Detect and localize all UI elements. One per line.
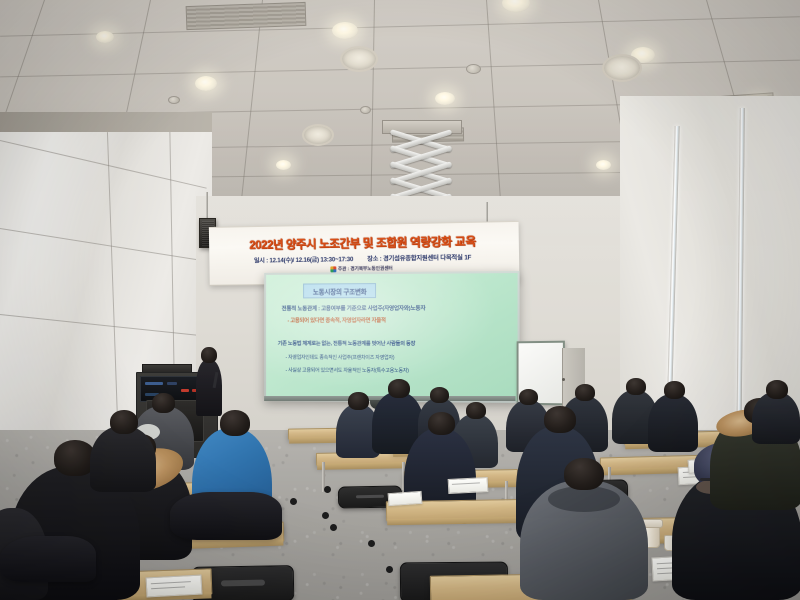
ceiling-downlight — [435, 92, 455, 105]
banner-host-label: 주관 : 경기북부노동인권센터 — [338, 265, 393, 272]
ceiling-downlight — [195, 76, 217, 91]
handout-paper — [388, 491, 423, 506]
smoke-detector-icon — [360, 106, 371, 114]
attendee — [520, 480, 648, 600]
banner-date: 일시 : 12.14(수)/ 12.16(금) 13:30~17:30 — [254, 254, 353, 264]
host-logo-icon — [330, 266, 336, 272]
slide-line: - 고용되어 있다면 종속적, 자영업자라면 자율적 — [287, 316, 385, 324]
attendee — [90, 426, 156, 492]
ceiling-downlight — [276, 160, 291, 170]
draped-coat — [0, 536, 96, 582]
banner-host: 주관 : 경기북부노동인권센터 — [330, 265, 393, 272]
speaker-pole-left — [206, 192, 208, 220]
slide-title: 노동시장의 구조변화 — [303, 283, 376, 298]
banner-title: 2022년 양주시 노조간부 및 조합원 역량강화 교육 — [249, 236, 476, 252]
banner-place: 장소 : 경기섬유종합지원센터 다목적실 1F — [367, 252, 471, 263]
slide-line: - 자영업자인데도 종속적인 사업주(프랜차이즈 자영업자) — [286, 354, 395, 361]
slide-line: 전통적 노동관계 : 고용여부를 기준으로 사업주(자영업자와)노동자 — [282, 304, 426, 312]
ceiling-downlight — [96, 31, 114, 43]
ceiling-light-ring — [340, 46, 378, 72]
smoke-detector-icon — [168, 96, 180, 104]
door-knob-icon — [562, 378, 565, 381]
smoke-detector-icon — [466, 64, 481, 74]
ceiling-light-ring — [302, 124, 334, 146]
attendee — [648, 394, 698, 452]
slide-line: - 사실상 고용되어 있으면서도 자율적인 노동자(특수고용노동자) — [286, 367, 409, 374]
ceiling-light-ring — [602, 54, 642, 82]
attendee — [752, 392, 800, 444]
handout-paper — [146, 575, 203, 598]
ceiling-downlight — [332, 22, 358, 39]
draped-coat — [170, 492, 282, 540]
ceiling-downlight — [502, 0, 530, 12]
presenter — [196, 360, 222, 416]
ceiling-downlight — [596, 160, 611, 170]
handout-paper — [448, 477, 489, 494]
slide-line: 기존 노동법 체계로는 없는, 전통적 노동관계를 벗어난 사람들의 등장 — [278, 340, 415, 347]
banner-subtitle: 일시 : 12.14(수)/ 12.16(금) 13:30~17:30 장소 :… — [254, 252, 471, 264]
ceiling-vent — [186, 2, 307, 30]
lecture-hall-photo: 2022년 양주시 노조간부 및 조합원 역량강화 교육 일시 : 12.14(… — [0, 0, 800, 600]
